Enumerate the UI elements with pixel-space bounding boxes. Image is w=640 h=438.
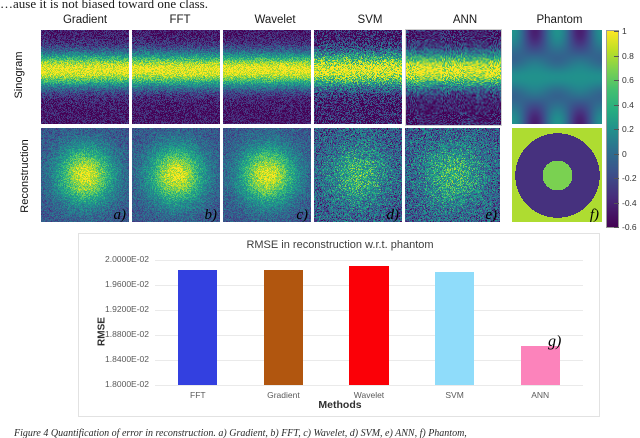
panel-letter-d: d) bbox=[387, 208, 400, 222]
colorbar-tick-label: 0.6 bbox=[622, 76, 634, 85]
colorbar-tick-mark bbox=[614, 56, 619, 57]
y-axis-tick-label: 1.9600E-02 bbox=[85, 280, 149, 289]
y-axis-tick-label: 1.8000E-02 bbox=[85, 380, 149, 389]
colorbar-tick-mark bbox=[614, 203, 619, 204]
y-axis-tick-label: 1.8400E-02 bbox=[85, 355, 149, 364]
colorbar-tick-label: 0 bbox=[622, 150, 627, 159]
sinogram-image-phantom bbox=[512, 30, 602, 124]
chart-bar-ann[interactable] bbox=[521, 346, 560, 385]
x-axis-title: Methods bbox=[79, 399, 601, 411]
colorbar-tick-label: 0.2 bbox=[622, 125, 634, 134]
reconstruction-image-wavelet: c) bbox=[223, 128, 311, 222]
panel-letter-a: a) bbox=[114, 208, 127, 222]
colorbar-tick-mark bbox=[614, 80, 619, 81]
panel-letter-e: e) bbox=[485, 208, 497, 222]
sinogram-image-wavelet bbox=[223, 30, 311, 124]
panel-letter-f: f) bbox=[590, 208, 599, 222]
sinogram-image-svm bbox=[314, 30, 402, 124]
reconstruction-image-gradient: a) bbox=[41, 128, 129, 222]
row-label-sinogram: Sinogram bbox=[13, 20, 25, 130]
column-header-row: Gradient FFT Wavelet SVM ANN Phantom bbox=[40, 14, 602, 30]
y-axis-tick-label: 1.8800E-02 bbox=[85, 330, 149, 339]
chart-title: RMSE in reconstruction w.r.t. phantom bbox=[79, 239, 601, 251]
x-axis-tick-label-fft: FFT bbox=[155, 390, 241, 400]
colorbar-tick-label: -0.6 bbox=[622, 223, 637, 232]
colorbar-tick-label: 0.8 bbox=[622, 52, 634, 61]
chart-bar-gradient[interactable] bbox=[264, 270, 303, 385]
reconstruction-image-ann: e) bbox=[405, 128, 500, 222]
rmse-bar-chart: RMSE in reconstruction w.r.t. phantom RM… bbox=[78, 233, 600, 417]
colorbar-tick-mark bbox=[614, 178, 619, 179]
x-axis-tick-label-ann: ANN bbox=[497, 390, 583, 400]
colorbar: 10.80.60.40.20-0.2-0.4-0.6 bbox=[606, 30, 640, 228]
colorbar-tick-mark bbox=[614, 105, 619, 106]
colorbar-tick-label: 1 bbox=[622, 27, 627, 36]
reconstruction-image-svm: d) bbox=[314, 128, 402, 222]
colorbar-tick-mark bbox=[614, 129, 619, 130]
chart-bar-fft[interactable] bbox=[178, 270, 217, 385]
column-header-wavelet: Wavelet bbox=[230, 14, 320, 26]
chart-bar-svm[interactable] bbox=[435, 272, 474, 385]
x-axis-tick-label-svm: SVM bbox=[412, 390, 498, 400]
y-axis-tick-label: 2.0000E-02 bbox=[85, 255, 149, 264]
panel-letter-b: b) bbox=[205, 208, 218, 222]
reconstruction-image-phantom: f) bbox=[512, 128, 602, 222]
panel-letter-c: c) bbox=[296, 208, 308, 222]
column-header-svm: SVM bbox=[325, 14, 415, 26]
colorbar-tick-label: 0.4 bbox=[622, 101, 634, 110]
chart-bar-wavelet[interactable] bbox=[349, 266, 388, 385]
chart-plot-area: 2.0000E-021.9600E-021.9200E-021.8800E-02… bbox=[155, 260, 583, 385]
x-axis-tick-label-wavelet: Wavelet bbox=[326, 390, 412, 400]
page-body-text-fragment: …ause it is not biased toward one class. bbox=[0, 0, 640, 10]
reconstruction-image-fft: b) bbox=[132, 128, 220, 222]
figure-caption: Figure 4 Quantification of error in reco… bbox=[14, 428, 634, 438]
sinogram-image-ann bbox=[405, 29, 502, 126]
colorbar-tick-mark bbox=[614, 227, 619, 228]
panel-letter-g: g) bbox=[548, 333, 561, 351]
colorbar-tick-label: -0.4 bbox=[622, 199, 637, 208]
figure-image-grid: Gradient FFT Wavelet SVM ANN Phantom Sin… bbox=[0, 14, 640, 228]
sinogram-image-gradient bbox=[41, 30, 129, 124]
column-header-ann: ANN bbox=[420, 14, 510, 26]
colorbar-tick-mark bbox=[614, 154, 619, 155]
colorbar-tick-mark bbox=[614, 31, 619, 32]
column-header-gradient: Gradient bbox=[40, 14, 130, 26]
sinogram-image-fft bbox=[132, 30, 220, 124]
column-header-phantom: Phantom bbox=[512, 14, 607, 26]
y-axis-tick-label: 1.9200E-02 bbox=[85, 305, 149, 314]
row-label-reconstruction: Reconstruction bbox=[19, 121, 31, 231]
column-header-fft: FFT bbox=[135, 14, 225, 26]
colorbar-tick-label: -0.2 bbox=[622, 174, 637, 183]
chart-gridline bbox=[155, 260, 583, 261]
chart-gridline bbox=[155, 385, 583, 386]
x-axis-tick-label-gradient: Gradient bbox=[241, 390, 327, 400]
